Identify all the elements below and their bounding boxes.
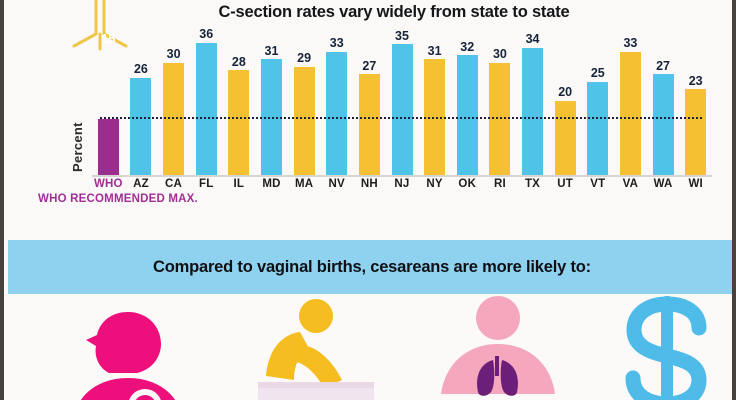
bar-rect-tx <box>522 48 543 176</box>
x-label-ok: OK <box>451 178 484 190</box>
bar-rect-ok <box>457 55 478 176</box>
bar-wi: 23 <box>685 28 706 176</box>
infographic-frame: C-section rates vary widely from state t… <box>0 0 736 400</box>
bar-value-ma: 29 <box>297 52 311 65</box>
icon-row <box>8 294 736 400</box>
axis-baseline <box>92 175 712 177</box>
bar-ca: 30 <box>163 28 184 176</box>
bar-rect-who <box>98 119 119 176</box>
x-label-wi: WI <box>679 178 712 190</box>
bar-rect-nh <box>359 74 380 176</box>
bar-value-il: 28 <box>232 56 246 69</box>
x-label-wa: WA <box>647 178 680 190</box>
bar-rect-vt <box>587 82 608 176</box>
bar-az: 26 <box>130 28 151 176</box>
bar-rect-wi <box>685 89 706 176</box>
x-label-nj: NJ <box>386 178 419 190</box>
x-label-ca: CA <box>157 178 190 190</box>
bar-tx: 34 <box>522 28 543 176</box>
bar-va: 33 <box>620 28 641 176</box>
who-recommended-caption: WHO RECOMMENDED MAX. <box>38 192 198 206</box>
chart-panel: C-section rates vary widely from state t… <box>4 0 736 240</box>
x-axis-labels: WHOAZCAFLILMDMANVNHNJNYOKRITXUTVTVAWAWI <box>92 178 712 193</box>
icon-cell-dollar <box>593 294 736 400</box>
bar-md: 31 <box>261 28 282 176</box>
bar-value-md: 31 <box>265 45 279 58</box>
x-label-va: VA <box>614 178 647 190</box>
bar-value-tx: 34 <box>526 33 540 46</box>
woman-figure-icon <box>53 294 203 400</box>
bar-who: 15 <box>98 28 119 176</box>
bar-value-az: 26 <box>134 63 148 76</box>
bar-rect-ri <box>489 63 510 176</box>
x-label-vt: VT <box>581 178 614 190</box>
bar-value-ut: 20 <box>558 86 572 99</box>
bar-value-vt: 25 <box>591 67 605 80</box>
plot-area: 15263036283129332735313230342025332723 <box>92 28 712 176</box>
bar-value-nv: 33 <box>330 37 344 50</box>
bar-rect-nv <box>326 52 347 176</box>
bar-nh: 27 <box>359 28 380 176</box>
x-label-az: AZ <box>125 178 158 190</box>
bar-rect-fl <box>196 43 217 177</box>
icon-cell-woman <box>38 294 218 400</box>
dollar-sign-icon <box>603 294 733 400</box>
bar-rect-wa <box>653 74 674 176</box>
bar-fl: 36 <box>196 28 217 176</box>
x-label-fl: FL <box>190 178 223 190</box>
bar-ok: 32 <box>457 28 478 176</box>
bar-value-ok: 32 <box>460 41 474 54</box>
bar-rect-il <box>228 70 249 176</box>
bar-value-va: 33 <box>623 37 637 50</box>
bar-rect-va <box>620 52 641 176</box>
section-banner: Compared to vaginal births, cesareans ar… <box>8 240 736 294</box>
bar-ri: 30 <box>489 28 510 176</box>
bar-nv: 33 <box>326 28 347 176</box>
torso-with-lungs-icon <box>423 294 573 400</box>
bar-ny: 31 <box>424 28 445 176</box>
x-label-ma: MA <box>288 178 321 190</box>
x-label-nv: NV <box>320 178 353 190</box>
banner-text: Compared to vaginal births, cesareans ar… <box>153 258 591 277</box>
bar-vt: 25 <box>587 28 608 176</box>
bar-rect-ma <box>294 67 315 176</box>
x-label-ny: NY <box>418 178 451 190</box>
x-label-md: MD <box>255 178 288 190</box>
chart-title: C-section rates vary widely from state t… <box>124 3 664 22</box>
x-label-tx: TX <box>516 178 549 190</box>
bar-rect-nj <box>392 44 413 176</box>
x-label-il: IL <box>223 178 256 190</box>
bar-value-wa: 27 <box>656 60 670 73</box>
bar-nj: 35 <box>392 28 413 176</box>
bar-il: 28 <box>228 28 249 176</box>
bar-wa: 27 <box>653 28 674 176</box>
who-reference-line <box>100 117 702 119</box>
person-bending-over-bed-icon <box>238 294 388 400</box>
x-label-ri: RI <box>484 178 517 190</box>
bar-value-ri: 30 <box>493 48 507 61</box>
bar-value-ny: 31 <box>428 45 442 58</box>
bar-ma: 29 <box>294 28 315 176</box>
bar-value-who: 15 <box>101 33 115 46</box>
bar-ut: 20 <box>555 28 576 176</box>
bar-value-fl: 36 <box>199 28 213 41</box>
icon-cell-lungs <box>408 294 588 400</box>
bar-value-nj: 35 <box>395 30 409 43</box>
x-label-ut: UT <box>549 178 582 190</box>
bar-rect-ca <box>163 63 184 176</box>
bar-value-ca: 30 <box>167 48 181 61</box>
icon-cell-person-bending <box>223 294 403 400</box>
bar-value-nh: 27 <box>362 60 376 73</box>
x-label-who: WHO <box>92 178 125 190</box>
x-label-nh: NH <box>353 178 386 190</box>
y-axis-label: Percent <box>70 110 86 172</box>
bar-rect-az <box>130 78 151 176</box>
bar-value-wi: 23 <box>689 75 703 88</box>
bar-rect-ut <box>555 101 576 176</box>
